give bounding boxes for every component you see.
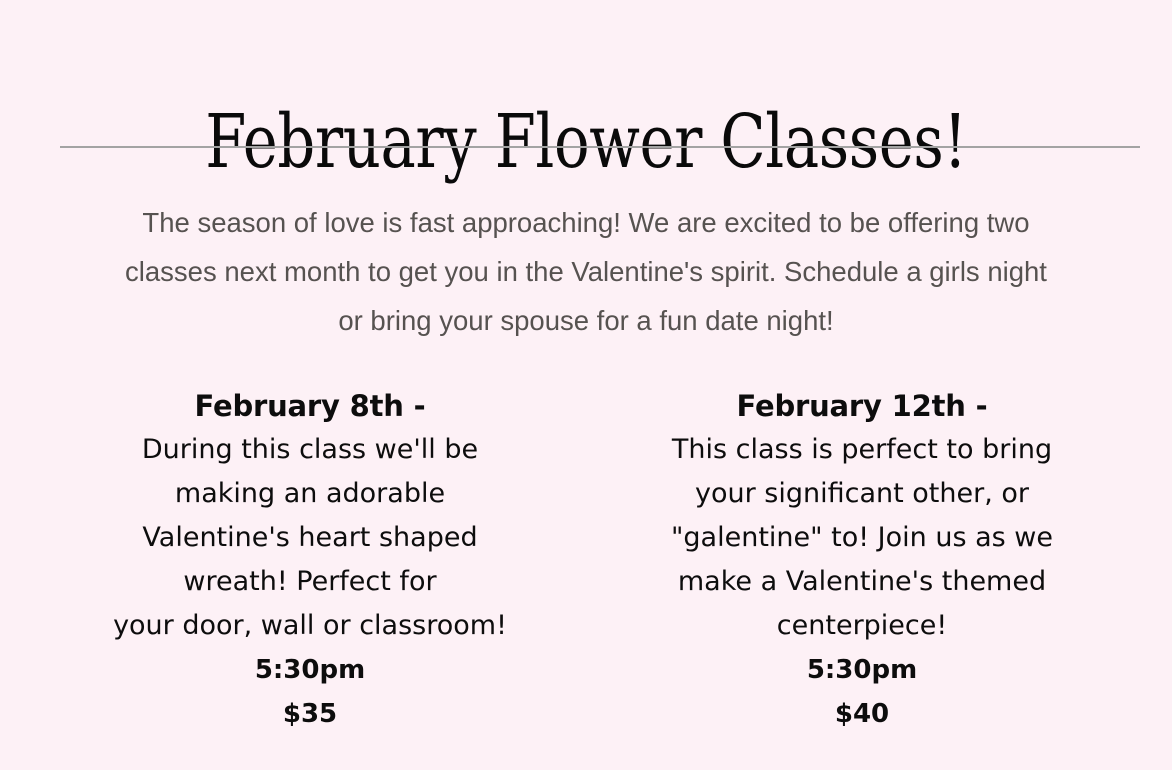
- class-description-line: wreath! Perfect for: [90, 560, 530, 604]
- class-price: $35: [90, 692, 530, 736]
- intro-paragraph: The season of love is fast approaching! …: [56, 198, 1116, 345]
- class-description-line: This class is perfect to bring: [642, 428, 1082, 472]
- class-description-line: making an adorable: [90, 472, 530, 516]
- class-description-line: Valentine's heart shaped: [90, 516, 530, 560]
- class-heading: February 8th -: [90, 384, 530, 428]
- intro-line-3: or bring your spouse for a fun date nigh…: [56, 296, 1116, 345]
- class-description-line: During this class we'll be: [90, 428, 530, 472]
- class-description-line: make a Valentine's themed: [642, 560, 1082, 604]
- class-time: 5:30pm: [642, 648, 1082, 692]
- class-description-line: your door, wall or classroom!: [90, 604, 530, 648]
- class-columns: February 8th - During this class we'll b…: [0, 384, 1172, 736]
- intro-line-1: The season of love is fast approaching! …: [56, 198, 1116, 247]
- class-card-february-12th: February 12th - This class is perfect to…: [642, 384, 1082, 736]
- intro-line-2: classes next month to get you in the Val…: [56, 247, 1116, 296]
- class-description-line: "galentine" to! Join us as we: [642, 516, 1082, 560]
- class-description-line: your significant other, or: [642, 472, 1082, 516]
- class-price: $40: [642, 692, 1082, 736]
- class-heading: February 12th -: [642, 384, 1082, 428]
- page-title: February Flower Classes!: [117, 94, 1055, 190]
- flyer-page: February Flower Classes! The season of l…: [0, 0, 1172, 770]
- class-card-february-8th: February 8th - During this class we'll b…: [90, 384, 530, 736]
- class-description-line: centerpiece!: [642, 604, 1082, 648]
- class-time: 5:30pm: [90, 648, 530, 692]
- header-divider: [60, 146, 1140, 148]
